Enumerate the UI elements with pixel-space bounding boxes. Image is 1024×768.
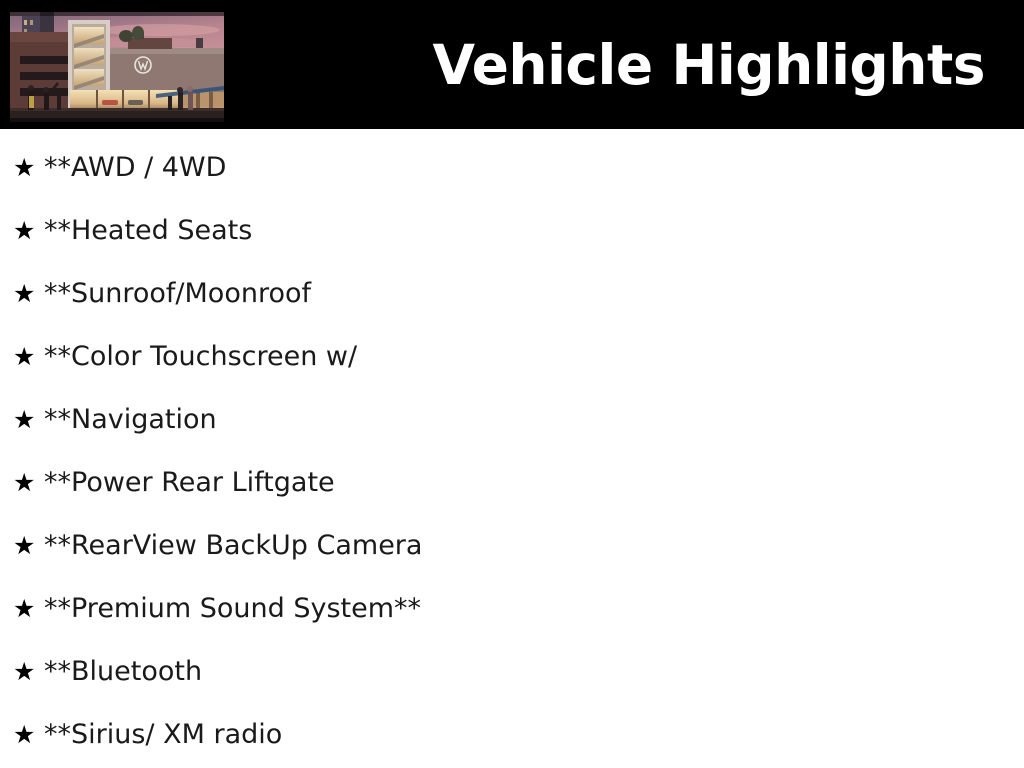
list-item: ★ **Heated Seats (0, 199, 1024, 262)
list-item: ★ **RearView BackUp Camera (0, 514, 1024, 577)
list-item: ★ **Sirius/ XM radio (0, 703, 1024, 766)
star-bullet-icon: ★ (13, 533, 44, 558)
star-bullet-icon: ★ (13, 218, 44, 243)
dealership-photo (10, 12, 224, 122)
list-item: ★ **Premium Sound System** (0, 577, 1024, 640)
list-item-label: **Navigation (44, 403, 217, 437)
list-item-label: **Color Touchscreen w/ (44, 340, 357, 374)
list-item: ★ **Power Rear Liftgate (0, 451, 1024, 514)
list-item-label: **Premium Sound System** (44, 592, 421, 626)
page-title: Vehicle Highlights (433, 33, 985, 97)
list-item: ★ **Color Touchscreen w/ (0, 325, 1024, 388)
star-bullet-icon: ★ (13, 659, 44, 684)
header-band: Vehicle Highlights (0, 0, 1024, 129)
list-item: ★ **Bluetooth (0, 640, 1024, 703)
star-bullet-icon: ★ (13, 722, 44, 747)
star-bullet-icon: ★ (13, 344, 44, 369)
star-bullet-icon: ★ (13, 470, 44, 495)
list-item-label: **Sunroof/Moonroof (44, 277, 311, 311)
list-item-label: **AWD / 4WD (44, 151, 226, 185)
list-item-label: **Power Rear Liftgate (44, 466, 335, 500)
slide-vehicle-highlights: Vehicle Highlights ★ **AWD / 4WD ★ **Hea… (0, 0, 1024, 768)
star-bullet-icon: ★ (13, 281, 44, 306)
star-bullet-icon: ★ (13, 596, 44, 621)
list-item: ★ **Navigation (0, 388, 1024, 451)
list-item: ★ **AWD / 4WD (0, 136, 1024, 199)
list-item: ★ **Sunroof/Moonroof (0, 262, 1024, 325)
star-bullet-icon: ★ (13, 407, 44, 432)
list-item-label: **Sirius/ XM radio (44, 718, 282, 752)
list-item-label: **Heated Seats (44, 214, 252, 248)
list-item-label: **Bluetooth (44, 655, 202, 689)
vehicle-highlights-list: ★ **AWD / 4WD ★ **Heated Seats ★ **Sunro… (0, 136, 1024, 766)
star-bullet-icon: ★ (13, 155, 44, 180)
list-item-label: **RearView BackUp Camera (44, 529, 422, 563)
